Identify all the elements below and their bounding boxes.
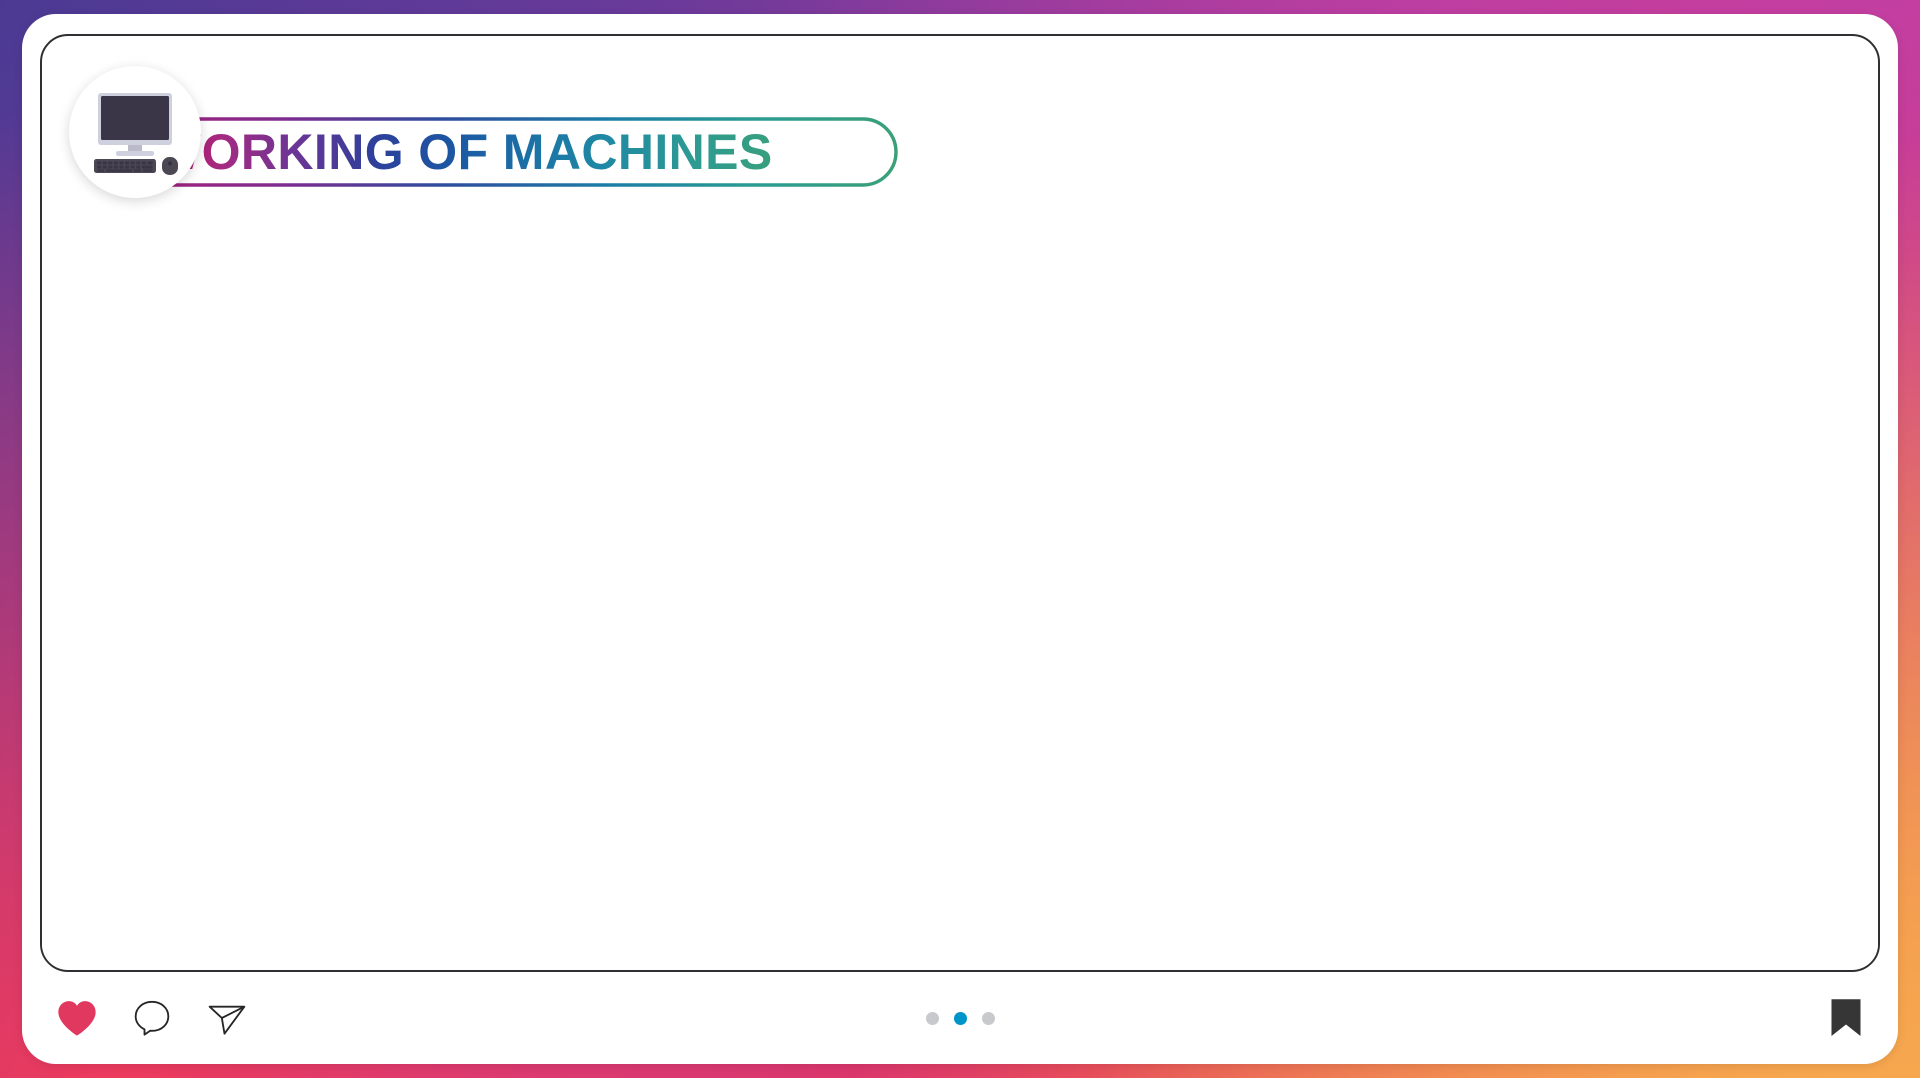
carousel-dot-1[interactable] [926,1012,939,1025]
save-button[interactable] [1828,997,1864,1039]
desktop-computer-icon [86,89,184,175]
post-card: WORKING OF MACHINES [22,14,1898,1064]
paper-plane-icon [206,998,248,1038]
carousel-dot-3[interactable] [982,1012,995,1025]
heart-icon [56,999,98,1037]
carousel-dot-2[interactable] [954,1012,967,1025]
comment-bubble-icon [132,998,172,1038]
page-title: WORKING OF MACHINES [154,119,794,185]
app-backdrop: WORKING OF MACHINES [0,0,1920,1078]
like-button[interactable] [56,999,98,1037]
slide-media-area[interactable]: WORKING OF MACHINES [40,34,1880,972]
bookmark-icon [1828,997,1864,1039]
post-action-bar [22,972,1898,1064]
comment-button[interactable] [132,998,172,1038]
avatar[interactable] [69,66,201,198]
secondary-actions [1828,997,1864,1039]
share-button[interactable] [206,998,248,1038]
primary-actions [56,998,248,1038]
slide-content-area [42,206,1878,966]
carousel-dots [22,972,1898,1064]
